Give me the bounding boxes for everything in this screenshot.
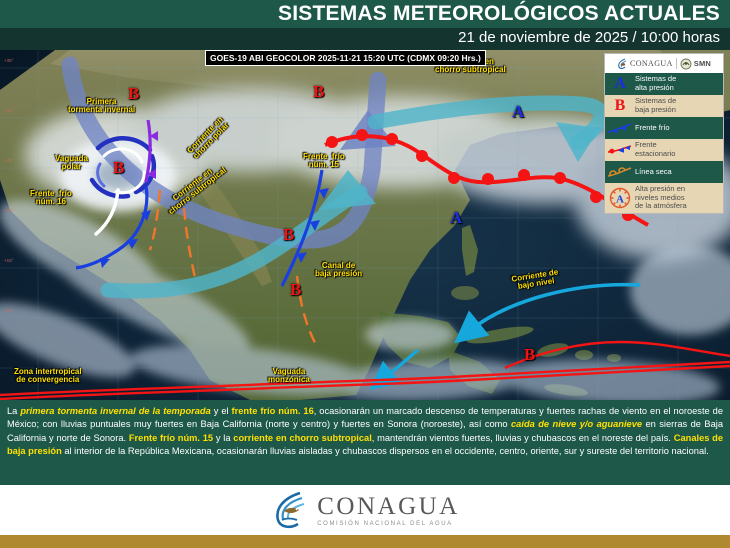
summary-fragment-7: Frente frío núm. 15 bbox=[129, 433, 213, 443]
legend-conagua-text: CONAGUA bbox=[630, 59, 673, 68]
pressure-marker-low-3: B bbox=[313, 82, 324, 102]
map-label-vaguada-polar: Vaguada polar bbox=[55, 155, 88, 172]
summary-panel: La primera tormenta invernal de la tempo… bbox=[0, 400, 730, 485]
map-label-canal-baja-presion: Canal de baja presión bbox=[315, 262, 362, 279]
footer-subtitle: COMISIÓN NACIONAL DEL AGUA bbox=[317, 521, 460, 527]
legend-label-cold-front: Frente frío bbox=[635, 124, 673, 133]
smn-seal-icon bbox=[680, 58, 692, 70]
footer-gold-bar bbox=[0, 535, 730, 548]
water-drop-icon bbox=[617, 58, 628, 70]
legend-item-stationary-front: Frente estacionario bbox=[605, 139, 723, 161]
summary-text: La primera tormenta invernal de la tempo… bbox=[7, 405, 723, 458]
conagua-footer-logo: CONAGUA COMISIÓN NACIONAL DEL AGUA bbox=[0, 490, 730, 530]
page-title: SISTEMAS METEOROLÓGICOS ACTUALES bbox=[278, 2, 720, 26]
summary-fragment-0: La bbox=[7, 406, 20, 416]
satellite-map[interactable]: +35°+30°+25° +20°+15°+10° bbox=[0, 50, 730, 400]
summary-fragment-9: corriente en chorro subtropical bbox=[233, 433, 372, 443]
map-label-frente-frio-16: Frente frío núm. 16 bbox=[30, 190, 72, 207]
svg-text:A: A bbox=[616, 193, 624, 205]
mid-level-high-icon: A bbox=[605, 186, 635, 210]
pressure-marker-low-2: B bbox=[113, 158, 124, 178]
legend-label-high-pressure: Sistemas de alta presión bbox=[635, 75, 679, 92]
summary-fragment-5: caída de nieve y/o aguanieve bbox=[511, 419, 642, 429]
legend-item-high-pressure: A Sistemas de alta presión bbox=[605, 73, 723, 95]
summary-fragment-1: primera tormenta invernal de la temporad… bbox=[20, 406, 210, 416]
itcz-line bbox=[0, 362, 730, 395]
dry-line-icon bbox=[605, 166, 635, 179]
legend-divider bbox=[676, 58, 677, 69]
legend-item-mid-level-high: A Alta presión en niveles medios de la a… bbox=[605, 183, 723, 213]
legend-label-mid-level-high: Alta presión en niveles medios de la atm… bbox=[635, 185, 690, 211]
legend-item-dry-line: Línea seca bbox=[605, 161, 723, 183]
summary-fragment-12: al interior de la República Mexicana, oc… bbox=[62, 446, 709, 456]
map-label-zona-intertropical: Zona intertropical de convergencia bbox=[14, 368, 82, 385]
summary-fragment-3: frente frío núm. 16 bbox=[232, 406, 314, 416]
legend-item-cold-front: Frente frío bbox=[605, 117, 723, 139]
letter-b-icon: B bbox=[605, 97, 635, 115]
legend-label-dry-line: Línea seca bbox=[635, 168, 675, 177]
legend-label-stationary-front: Frente estacionario bbox=[635, 141, 678, 158]
footer-brand: CONAGUA bbox=[317, 494, 460, 519]
legend-brand-header: CONAGUA SMN bbox=[605, 54, 723, 73]
legend-panel: CONAGUA SMN A Sistemas de alta presión bbox=[604, 53, 724, 214]
tehuantepec-jet bbox=[382, 350, 418, 380]
smn-logo-small: SMN bbox=[680, 58, 711, 70]
pressure-marker-high-1: A bbox=[512, 102, 524, 122]
pressure-marker-high-2: A bbox=[450, 208, 462, 228]
summary-fragment-8: y la bbox=[213, 433, 233, 443]
map-label-vaguada-monzonica: Vaguada monzónica bbox=[268, 368, 310, 385]
stationary-front-icon bbox=[605, 144, 635, 157]
summary-fragment-2: y el bbox=[211, 406, 232, 416]
conagua-eagle-water-icon bbox=[270, 490, 310, 530]
legend-label-low-pressure: Sistemas de baja presión bbox=[635, 97, 679, 114]
pressure-marker-low-4: B bbox=[283, 225, 294, 245]
pressure-marker-low-5: B bbox=[290, 280, 301, 300]
weather-bulletin-page: SISTEMAS METEOROLÓGICOS ACTUALES 21 de n… bbox=[0, 0, 730, 548]
conagua-wordmark: CONAGUA COMISIÓN NACIONAL DEL AGUA bbox=[317, 494, 460, 527]
summary-fragment-10: , mantendrán vientos fuertes, lluvias y … bbox=[372, 433, 674, 443]
low-level-jet bbox=[468, 285, 640, 332]
footer: CONAGUA COMISIÓN NACIONAL DEL AGUA bbox=[0, 485, 730, 548]
legend-smn-text: SMN bbox=[694, 59, 711, 68]
conagua-logo-small: CONAGUA bbox=[617, 58, 673, 70]
cold-front-icon bbox=[605, 122, 635, 135]
cold-front-16 bbox=[76, 186, 147, 268]
pressure-marker-low-1: B bbox=[128, 84, 139, 104]
letter-a-icon: A bbox=[605, 75, 635, 93]
header-date-text: 21 de noviembre de 2025 / 10:00 horas bbox=[458, 29, 720, 46]
map-label-frente-frio-15: Frente frío núm. 15 bbox=[303, 153, 345, 170]
legend-item-low-pressure: B Sistemas de baja presión bbox=[605, 95, 723, 117]
map-label-primera-tormenta-invernal: Primera tormenta invernal bbox=[68, 98, 135, 115]
satellite-caption: GOES-19 ABI GEOCOLOR 2025-11-21 15:20 UT… bbox=[205, 50, 486, 66]
pressure-marker-low-6: B bbox=[524, 345, 535, 365]
